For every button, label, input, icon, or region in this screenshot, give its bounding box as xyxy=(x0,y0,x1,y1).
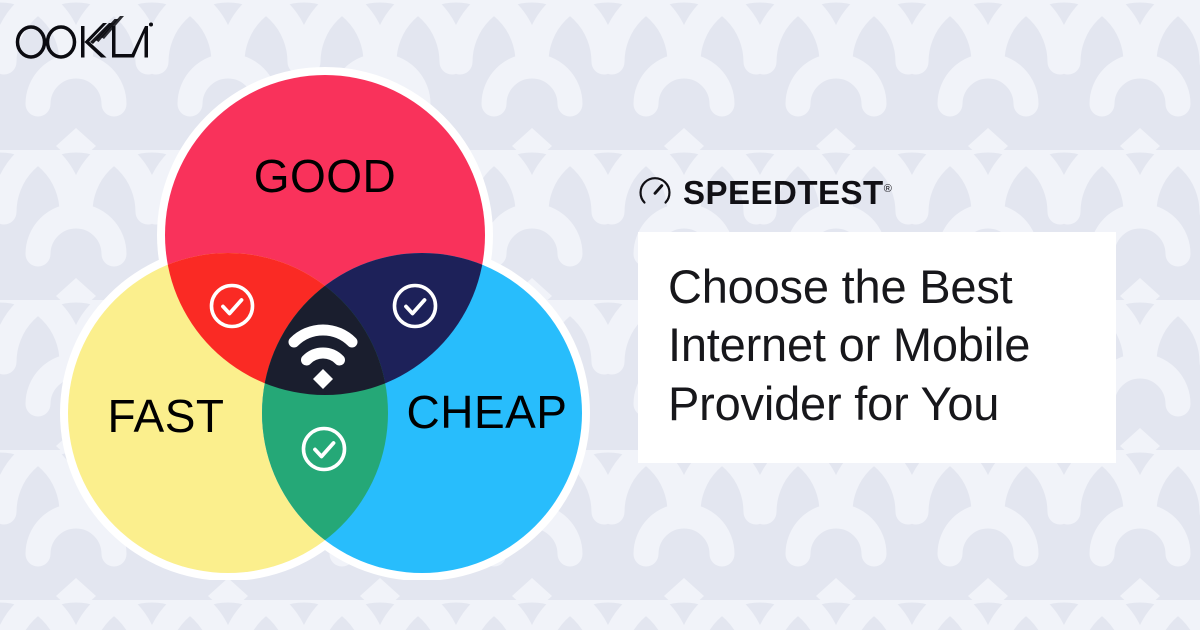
headline-card: Choose the Best Internet or Mobile Provi… xyxy=(638,232,1116,463)
promo-graphic: GOOD FAST CHEAP xyxy=(0,0,1200,630)
venn-label-cheap: CHEAP xyxy=(407,386,568,438)
registered-mark: ® xyxy=(884,183,892,195)
venn-label-fast: FAST xyxy=(107,390,224,442)
right-column: SPEEDTEST® Choose the Best Internet or M… xyxy=(638,170,1128,463)
speedtest-logo: SPEEDTEST® xyxy=(638,170,1128,214)
speedtest-wordmark-text: SPEEDTEST xyxy=(683,174,884,211)
ookla-logo xyxy=(14,16,154,60)
speedometer-icon xyxy=(638,175,672,209)
page-title: Choose the Best Internet or Mobile Provi… xyxy=(668,258,1086,433)
venn-diagram: GOOD FAST CHEAP xyxy=(40,60,620,580)
speedtest-wordmark: SPEEDTEST® xyxy=(683,176,892,209)
venn-label-good: GOOD xyxy=(254,150,397,202)
